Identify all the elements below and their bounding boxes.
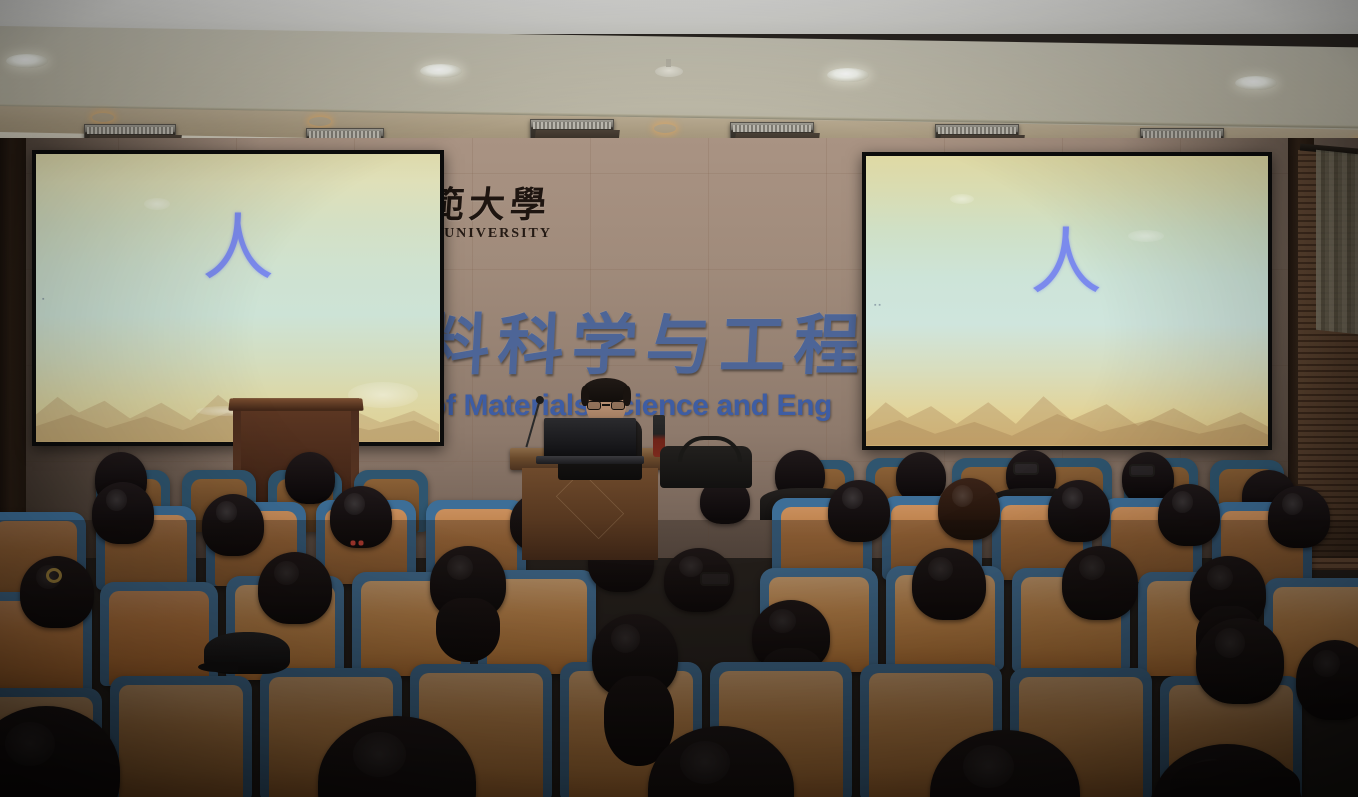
lecture-hall-photo: 範大學 L UNIVERSITY 料科学与工程学 of Materials Sc… bbox=[0, 0, 1358, 797]
audience-glasses-icon bbox=[1013, 462, 1039, 475]
audience-head bbox=[1062, 546, 1138, 620]
audience-head bbox=[938, 478, 1000, 540]
slide-corner-mark: ▪ ▪ bbox=[874, 302, 881, 309]
shoulder-bag bbox=[660, 446, 752, 488]
university-logo-chinese: 範大學 bbox=[427, 186, 570, 224]
audience-head-foreground bbox=[0, 706, 120, 797]
audience-head bbox=[1196, 618, 1284, 704]
slide-character: 人 bbox=[202, 212, 274, 284]
audience-head bbox=[330, 486, 392, 548]
ceiling-downlight-icon bbox=[309, 117, 331, 126]
audience-head bbox=[20, 556, 94, 628]
audience-head bbox=[285, 452, 335, 504]
right-projection-screen: 人 ▪ ▪ bbox=[862, 152, 1272, 450]
screen-glare bbox=[144, 198, 170, 210]
screen-glare bbox=[1128, 230, 1164, 242]
audience-hair bbox=[436, 598, 500, 662]
audience-head bbox=[828, 480, 890, 542]
audience-head bbox=[896, 452, 946, 502]
ceiling-spotlight-icon bbox=[827, 68, 869, 82]
audience-head bbox=[912, 548, 986, 620]
audience-glasses-icon bbox=[700, 572, 730, 586]
audience-glasses-icon bbox=[1129, 464, 1155, 477]
ceiling-downlight-icon bbox=[654, 124, 676, 133]
audience-head bbox=[258, 552, 332, 624]
ceiling-downlight-icon bbox=[92, 113, 114, 122]
hair-clip bbox=[350, 540, 364, 546]
right-screen-surface: 人 ▪ ▪ bbox=[866, 156, 1268, 446]
sprinkler-head-icon bbox=[655, 66, 683, 77]
slide-character: 人 bbox=[1030, 226, 1102, 298]
university-logo-english: L UNIVERSITY bbox=[428, 226, 568, 242]
audience-hair-foreground bbox=[1170, 760, 1300, 797]
audience-cap bbox=[204, 632, 290, 674]
presenter-hair bbox=[583, 378, 629, 402]
audience-head bbox=[1296, 640, 1358, 720]
seat bbox=[100, 582, 218, 686]
hair-clip bbox=[46, 568, 62, 583]
ceiling-spotlight-icon bbox=[420, 64, 462, 78]
presenter-laptop bbox=[544, 418, 636, 458]
audience-head bbox=[202, 494, 264, 556]
university-logo: 範大學 L UNIVERSITY bbox=[428, 186, 568, 256]
audience-head bbox=[1048, 480, 1110, 542]
audience-head bbox=[92, 482, 154, 544]
seat bbox=[110, 676, 252, 797]
slide-mountain-graphic bbox=[866, 347, 1268, 446]
audience-head bbox=[1268, 486, 1330, 548]
presenter-glasses-icon bbox=[587, 401, 625, 410]
audience-head bbox=[1158, 484, 1220, 546]
screen-glare bbox=[950, 194, 974, 204]
slide-corner-mark: ▪ bbox=[42, 296, 44, 303]
ceiling-spotlight-icon bbox=[1235, 76, 1277, 90]
ceiling-spotlight-icon bbox=[6, 54, 48, 68]
